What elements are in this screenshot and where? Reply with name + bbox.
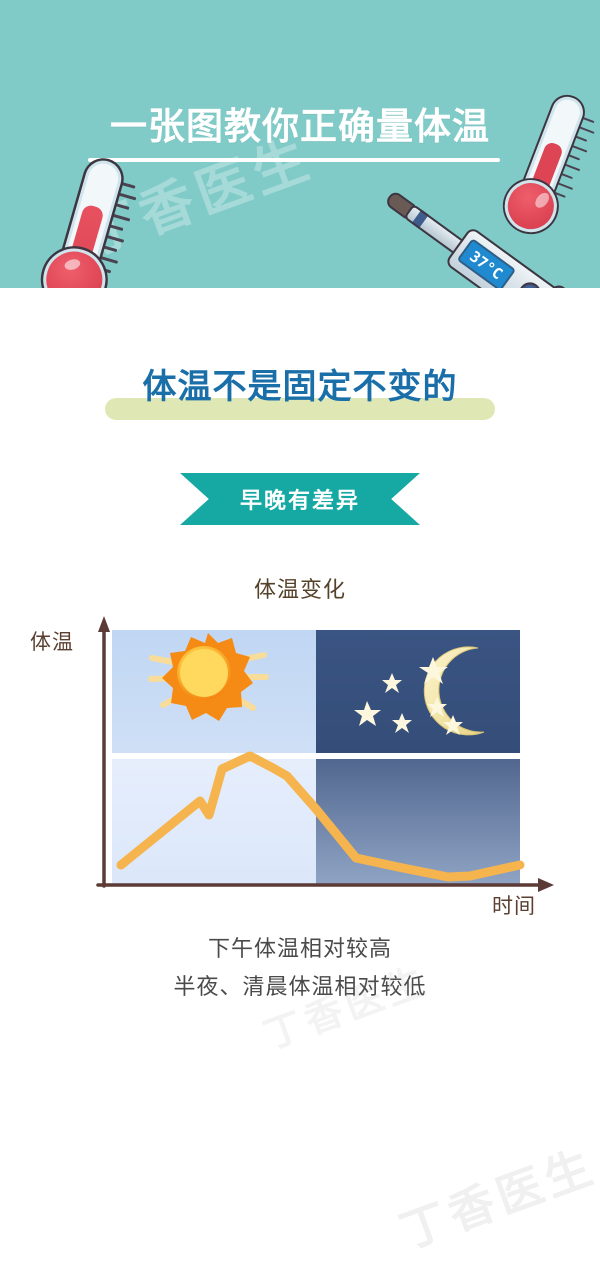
chart-region-night-upper (316, 630, 520, 755)
footer-notes: 下午体温相对较高 半夜、清晨体温相对较低 (0, 930, 600, 1006)
ribbon-banner: 早晚有差异 (180, 473, 420, 525)
section-heading-text: 体温不是固定不变的 (0, 362, 600, 412)
sun-inner (180, 649, 228, 697)
chart-mid-divider (112, 753, 520, 759)
temperature-chart: 体温变化 体温 时间 (0, 560, 600, 920)
note-line-1: 下午体温相对较高 (0, 930, 600, 968)
chart-region-night-lower (316, 759, 520, 885)
section-heading: 体温不是固定不变的 (0, 362, 600, 430)
page-title: 一张图教你正确量体温 (0, 104, 600, 150)
title-underline (88, 158, 500, 162)
mercury-thermometer-icon (15, 148, 168, 288)
ribbon-label: 早晚有差异 (240, 483, 360, 515)
note-line-2: 半夜、清晨体温相对较低 (0, 968, 600, 1006)
chart-y-axis-arrow (98, 616, 110, 632)
chart-x-axis-arrow (538, 878, 554, 892)
chart-canvas (0, 560, 600, 920)
watermark-chart: 丁香医生 (390, 1130, 600, 1262)
header-banner: 丁香医生 一张图教你正确量体温 (0, 0, 600, 288)
